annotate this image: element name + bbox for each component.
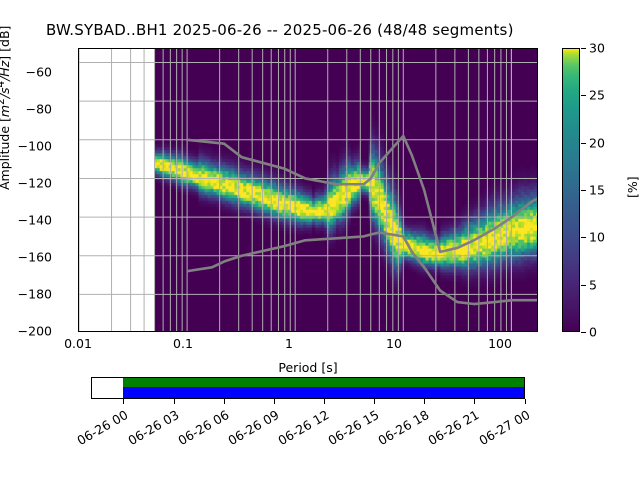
ppsd-canvas-clip <box>79 49 537 331</box>
coverage-segment-green <box>123 378 524 387</box>
time-axis-tick-label: 06-26 15 <box>322 407 381 450</box>
colorbar-tick-label: 10 <box>589 230 605 245</box>
colorbar-tick <box>581 285 586 286</box>
colorbar-tick-label: 25 <box>589 88 605 103</box>
y-tick-label: −180 <box>0 287 52 302</box>
time-axis-tick-label: 06-26 00 <box>71 407 130 450</box>
nhnm-curve <box>187 136 537 252</box>
x-tick-label: 100 <box>488 336 512 351</box>
time-axis-tick <box>174 399 175 404</box>
colorbar-tick-label: 0 <box>589 325 597 340</box>
x-tick-label: 10 <box>386 336 402 351</box>
colorbar-tick <box>581 237 586 238</box>
colorbar-tick <box>581 332 586 333</box>
colorbar <box>562 48 580 332</box>
nlnm-curve <box>187 233 537 304</box>
time-axis-tick <box>274 399 275 404</box>
noise-model-overlay <box>79 49 537 331</box>
ppsd-plot-area[interactable] <box>78 48 538 332</box>
time-axis-tick <box>324 399 325 404</box>
ppsd-figure: BW.SYBAD..BH1 2025-06-26 -- 2025-06-26 (… <box>0 0 640 480</box>
time-axis-tick-label: 06-26 12 <box>272 407 331 450</box>
y-tick-label: −160 <box>0 250 52 265</box>
time-axis-tick-label: 06-26 21 <box>422 407 481 450</box>
x-tick-label: 0.1 <box>173 336 193 351</box>
time-axis-tick-label: 06-26 06 <box>172 407 231 450</box>
colorbar-label: [%] <box>625 176 640 198</box>
time-axis-tick-label: 06-26 03 <box>122 407 181 450</box>
colorbar-tick <box>581 95 586 96</box>
time-axis-tick <box>374 399 375 404</box>
y-tick-label: −120 <box>0 176 52 191</box>
time-axis-tick-label: 06-27 00 <box>473 407 532 450</box>
colorbar-tick <box>581 143 586 144</box>
colorbar-tick-label: 20 <box>589 135 605 150</box>
time-axis-tick <box>224 399 225 404</box>
time-axis-tick <box>424 399 425 404</box>
colorbar-tick <box>581 190 586 191</box>
y-tick-label: −80 <box>0 102 52 117</box>
time-axis-tick <box>474 399 475 404</box>
time-axis-tick-label: 06-26 18 <box>372 407 431 450</box>
colorbar-tick <box>581 48 586 49</box>
gridlines <box>79 49 537 331</box>
time-axis-tick <box>123 399 124 404</box>
time-axis-tick <box>525 399 526 404</box>
time-axis-tick-label: 06-26 09 <box>222 407 281 450</box>
y-tick-label: −100 <box>0 139 52 154</box>
colorbar-tick-label: 15 <box>589 183 605 198</box>
y-tick-label: −60 <box>0 65 52 80</box>
colorbar-tick-label: 5 <box>589 277 597 292</box>
y-tick-label: −140 <box>0 213 52 228</box>
page-title: BW.SYBAD..BH1 2025-06-26 -- 2025-06-26 (… <box>46 21 514 39</box>
coverage-segment-blue <box>123 387 524 398</box>
x-tick-label: 1 <box>285 336 293 351</box>
time-coverage-bar[interactable] <box>91 377 525 399</box>
x-tick-label: 0.01 <box>64 336 92 351</box>
colorbar-tick-label: 30 <box>589 41 605 56</box>
x-axis-label: Period [s] <box>278 360 337 375</box>
y-tick-label: −200 <box>0 324 52 339</box>
